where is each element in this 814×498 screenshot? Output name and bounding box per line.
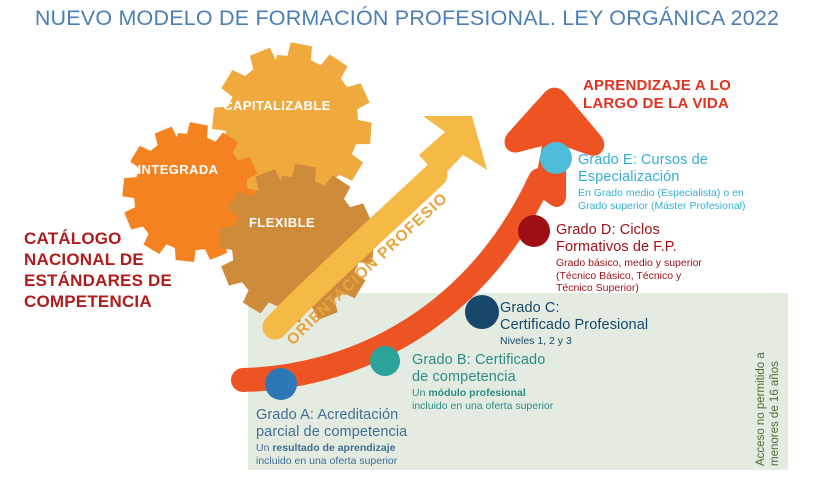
age-note-wrapper: Acceso no permitido a menores de 16 años — [755, 466, 814, 493]
grade-a-block: Grado A: Acreditación parcial de compete… — [256, 407, 471, 467]
grade-e-title: Grado E: Cursos de Especialización — [578, 152, 793, 186]
grade-a-sub-bold: resultado de aprendizaje — [272, 442, 395, 454]
grade-b-title: Grado B: Certificado de competencia — [412, 352, 612, 386]
grade-b-dot — [370, 346, 400, 376]
catalogo-nacional-caption: CATÁLOGO NACIONAL DE ESTÁNDARES DE COMPE… — [24, 228, 204, 312]
gear-label-flexible: FLEXIBLE — [241, 215, 323, 230]
gear-label-integrada: INTEGRADA — [137, 162, 219, 177]
grade-b-sub-bold: módulo profesional — [428, 387, 525, 399]
grade-c-block: Grado C: Certificado Profesional Niveles… — [500, 300, 715, 348]
grade-a-sub-suffix: incluido en una oferta superior — [256, 455, 397, 467]
grade-e-subtitle: En Grado medio (Especialista) o en Grado… — [578, 187, 793, 212]
grade-c-subtitle: Niveles 1, 2 y 3 — [500, 335, 715, 348]
gear-label-capitalizable: CAPITALIZABLE — [222, 98, 332, 113]
lifelong-learning-headline: APRENDIZAJE A LO LARGO DE LA VIDA — [583, 77, 813, 113]
grade-b-block: Grado B: Certificado de competencia Un m… — [412, 352, 612, 412]
grade-c-title: Grado C: Certificado Profesional — [500, 300, 715, 334]
grade-a-dot — [265, 368, 297, 400]
grade-c-dot — [465, 295, 499, 329]
age-restriction-note: Acceso no permitido a menores de 16 años — [755, 296, 782, 466]
grade-e-block: Grado E: Cursos de Especialización En Gr… — [578, 152, 793, 212]
grade-a-title: Grado A: Acreditación parcial de compete… — [256, 407, 471, 441]
grade-d-subtitle: Grado básico, medio y superior (Técnico … — [556, 257, 771, 295]
grade-e-dot — [540, 142, 572, 174]
infographic-canvas: NUEVO MODELO DE FORMACIÓN PROFESIONAL. L… — [0, 0, 814, 498]
grade-a-subtitle: Un resultado de aprendizaje incluido en … — [256, 442, 471, 467]
grade-b-sub-prefix: Un — [412, 387, 428, 399]
grade-a-sub-prefix: Un — [256, 442, 272, 454]
grade-d-block: Grado D: Ciclos Formativos de F.P. Grado… — [556, 222, 771, 295]
grade-d-dot — [518, 215, 550, 247]
grade-d-title: Grado D: Ciclos Formativos de F.P. — [556, 222, 771, 256]
